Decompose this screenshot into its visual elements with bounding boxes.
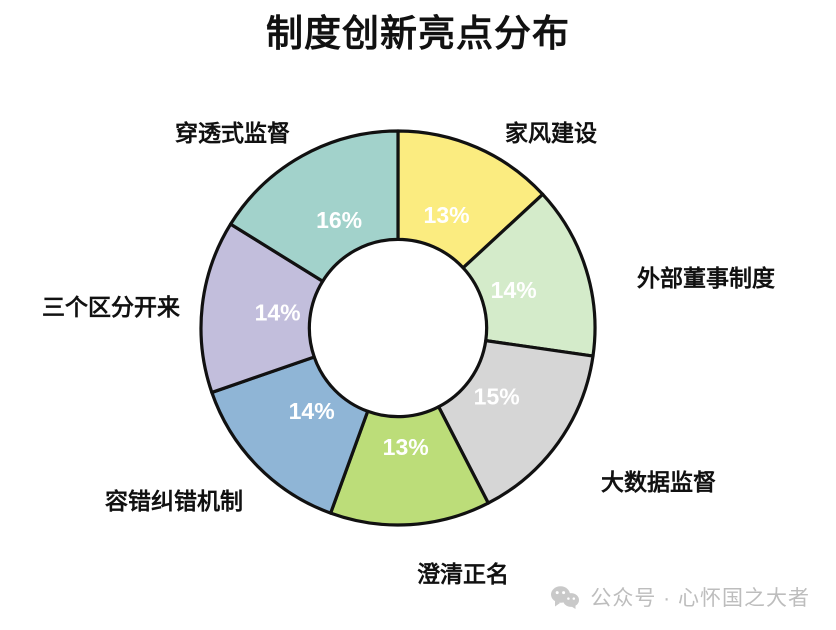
watermark: 公众号 · 心怀国之大者 — [550, 582, 810, 612]
slice-label-rongcuojiucuojizhi: 容错纠错机制 — [105, 490, 243, 513]
wechat-icon — [550, 585, 580, 609]
slice-label-waibudongshizhidu: 外部董事制度 — [637, 267, 775, 290]
chart-page: 制度创新亮点分布 13%14%15%13%14%14%16% 家风建设 外部董事… — [0, 0, 836, 630]
slice-value-label: 14% — [289, 398, 335, 424]
slice-label-chengqingzhengming: 澄清正名 — [417, 563, 509, 586]
slice-value-label: 16% — [316, 207, 362, 233]
slice-value-label: 14% — [255, 300, 301, 326]
watermark-text: 公众号 · 心怀国之大者 — [590, 582, 810, 612]
slice-value-label: 15% — [474, 383, 520, 409]
slice-label-sangequfenkailai: 三个区分开来 — [42, 296, 180, 319]
donut-chart-svg: 13%14%15%13%14%14%16% — [188, 118, 608, 538]
slice-label-jiafengjianshe: 家风建设 — [505, 122, 597, 145]
slice-label-dashujujiandu: 大数据监督 — [601, 471, 716, 494]
slice-value-label: 13% — [383, 434, 429, 460]
slice-group — [201, 131, 595, 525]
slice-label-chuantoushijiandu: 穿透式监督 — [175, 122, 290, 145]
slice-value-label: 14% — [491, 277, 537, 303]
donut-chart: 13%14%15%13%14%14%16% 家风建设 外部董事制度 大数据监督 … — [0, 0, 836, 630]
slice-value-label: 13% — [424, 202, 470, 228]
